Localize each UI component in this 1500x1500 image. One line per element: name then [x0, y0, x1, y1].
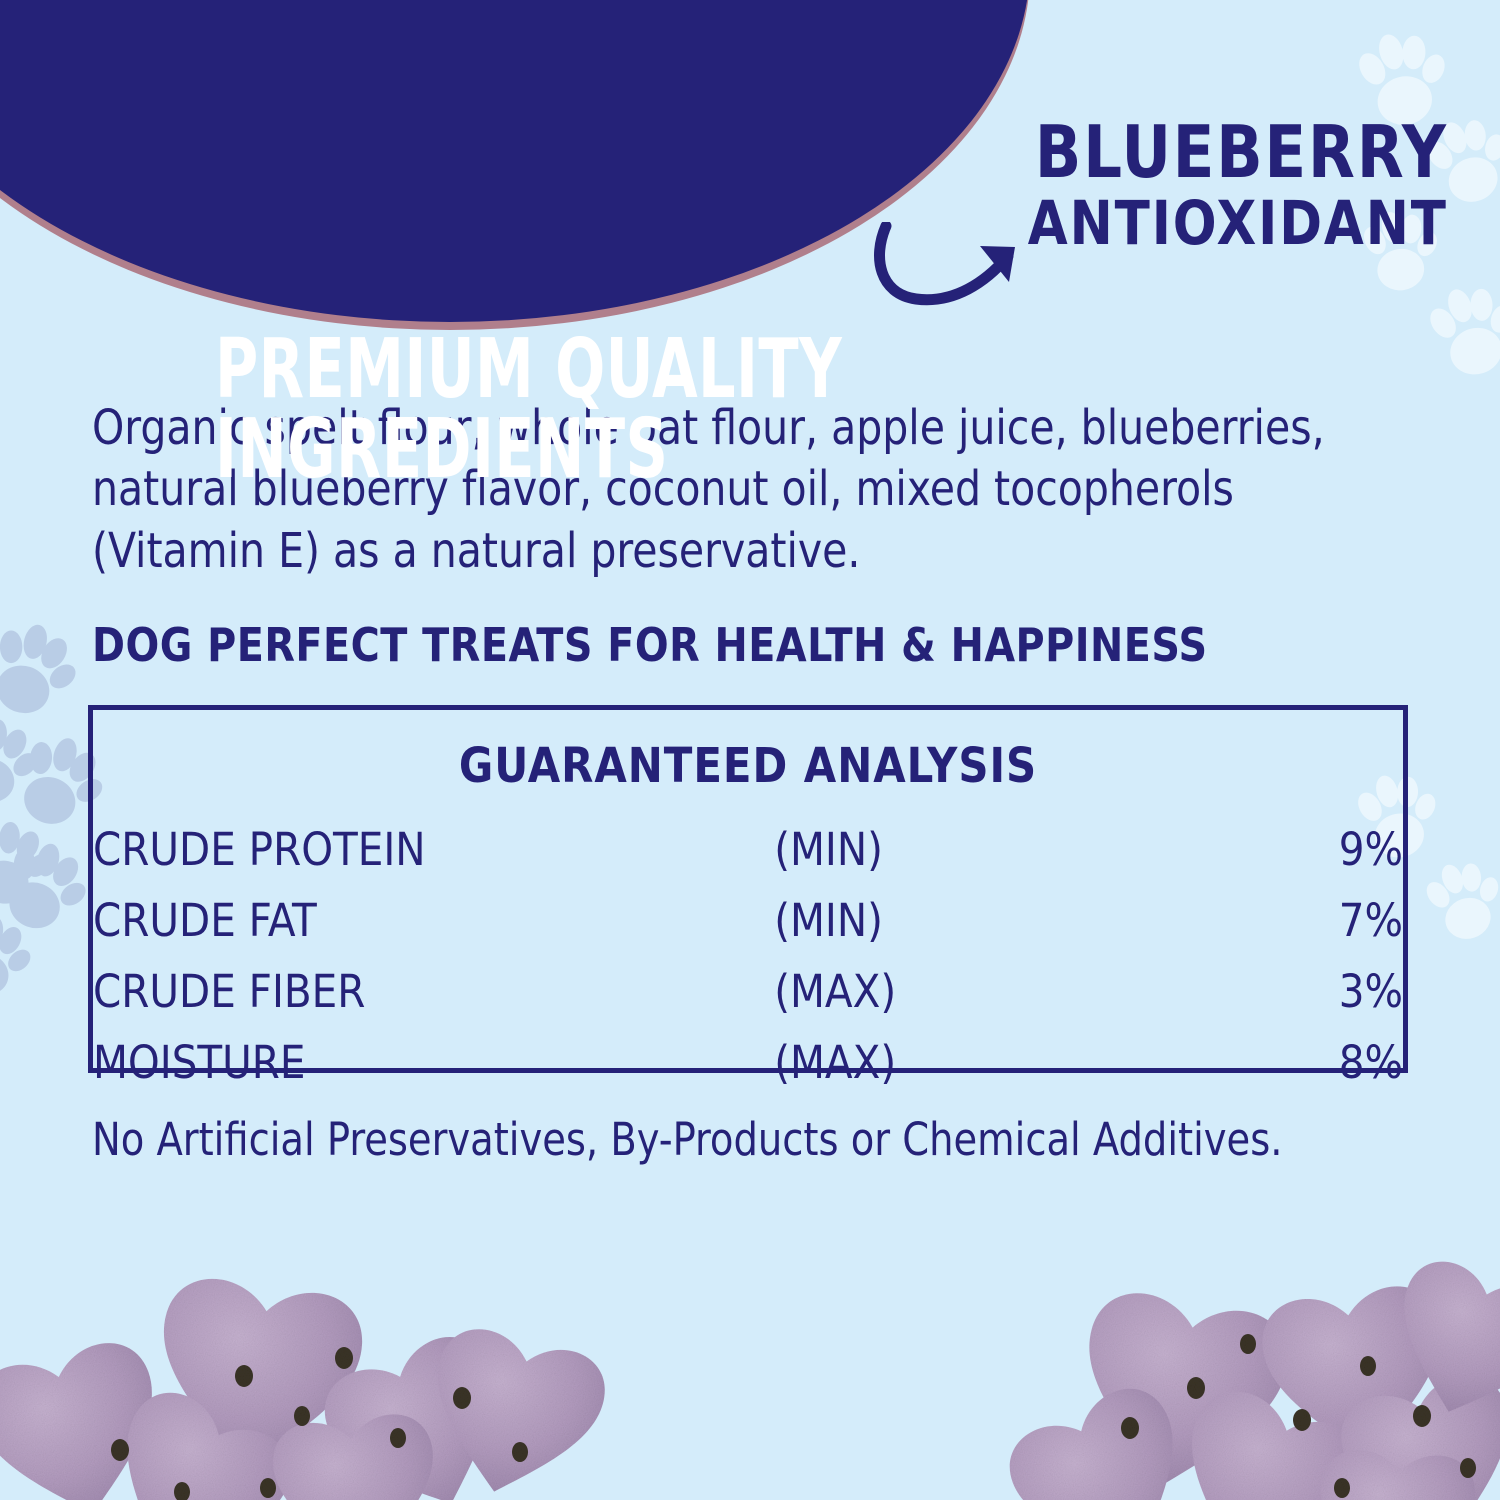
guaranteed-analysis-row: CRUDE FAT(MIN)7%	[93, 885, 1403, 956]
nutrient-value: 9%	[1115, 814, 1403, 885]
guaranteed-analysis-row: CRUDE PROTEIN(MIN)9%	[93, 814, 1403, 885]
nutrient-name: CRUDE FIBER	[93, 956, 774, 1027]
guaranteed-analysis-title: GUARANTEED ANALYSIS	[113, 738, 1384, 794]
disclaimer-text: No Artificial Preservatives, By-Products…	[92, 1113, 1282, 1166]
heart-dog-treat-icon	[996, 1252, 1500, 1500]
guaranteed-analysis-table: CRUDE PROTEIN(MIN)9%CRUDE FAT(MIN)7%CRUD…	[93, 814, 1403, 1098]
guaranteed-analysis-box: GUARANTEED ANALYSIS CRUDE PROTEIN(MIN)9%…	[88, 705, 1408, 1073]
guaranteed-analysis-row: CRUDE FIBER(MAX)3%	[93, 956, 1403, 1027]
callout-line1: BLUEBERRY	[1028, 118, 1448, 187]
guaranteed-analysis-row: MOISTURE(MAX)8%	[93, 1027, 1403, 1098]
nutrient-qualifier: (MAX)	[774, 1027, 1115, 1098]
nutrient-qualifier: (MIN)	[774, 885, 1115, 956]
nutrient-name: MOISTURE	[93, 1027, 774, 1098]
product-label-panel: PREMIUM QUALITY INGREDIENTS BLUEBERRY AN…	[0, 0, 1500, 1500]
dog-treats-photo-band	[0, 1220, 1500, 1500]
banner-title-line2: INGREDIENTS	[215, 410, 887, 490]
blueberry-antioxidant-callout: BLUEBERRY ANTIOXIDANT	[1001, 118, 1448, 254]
nutrient-value: 7%	[1115, 885, 1403, 956]
nutrient-value: 8%	[1115, 1027, 1403, 1098]
nutrient-qualifier: (MIN)	[774, 814, 1115, 885]
heart-dog-treat-icon	[0, 1273, 613, 1500]
tagline-heading: DOG PERFECT TREATS FOR HEALTH & HAPPINES…	[92, 618, 1208, 672]
callout-line2: ANTIOXIDANT	[1028, 193, 1448, 254]
nutrient-qualifier: (MAX)	[774, 956, 1115, 1027]
nutrient-value: 3%	[1115, 956, 1403, 1027]
banner-title: PREMIUM QUALITY INGREDIENTS	[215, 330, 887, 491]
nutrient-name: CRUDE PROTEIN	[93, 814, 774, 885]
nutrient-name: CRUDE FAT	[93, 885, 774, 956]
